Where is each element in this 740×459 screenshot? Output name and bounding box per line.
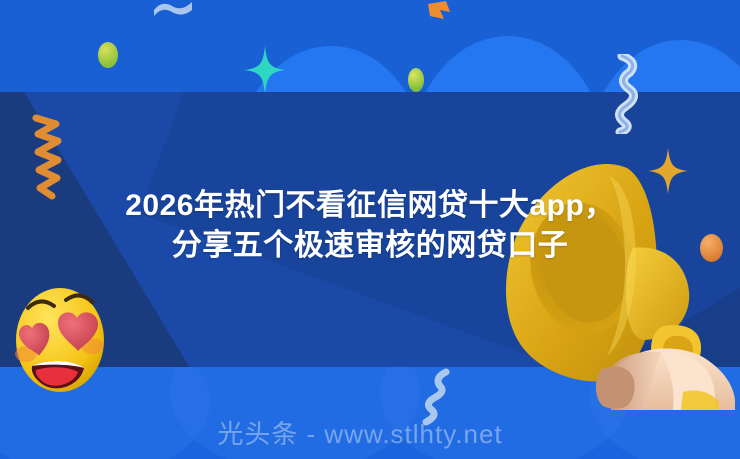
site-watermark: 光头条 - www.stlhty.net <box>0 414 740 451</box>
heart-eyes-emoji <box>10 282 110 402</box>
green-ellipse-confetti-icon <box>98 42 118 68</box>
blue-ribbon-topleft-icon <box>152 0 194 18</box>
megaphone-illustration <box>505 140 740 410</box>
orange-paper-confetti-icon <box>424 0 454 22</box>
green-ellipse-confetti-2-icon <box>408 68 424 92</box>
blue-spiral-ribbon-top-icon <box>598 54 646 134</box>
poster-title: 2026年热门不看征信网贷十大app， 分享五个极速审核的网贷口子 <box>0 186 740 265</box>
poster-title-line-2: 分享五个极速审核的网贷口子 <box>0 226 740 266</box>
poster-canvas: 2026年热门不看征信网贷十大app， 分享五个极速审核的网贷口子 光头条 - … <box>0 0 740 459</box>
cyan-star-confetti-icon <box>244 46 286 94</box>
poster-title-line-1: 2026年热门不看征信网贷十大app， <box>0 186 740 226</box>
